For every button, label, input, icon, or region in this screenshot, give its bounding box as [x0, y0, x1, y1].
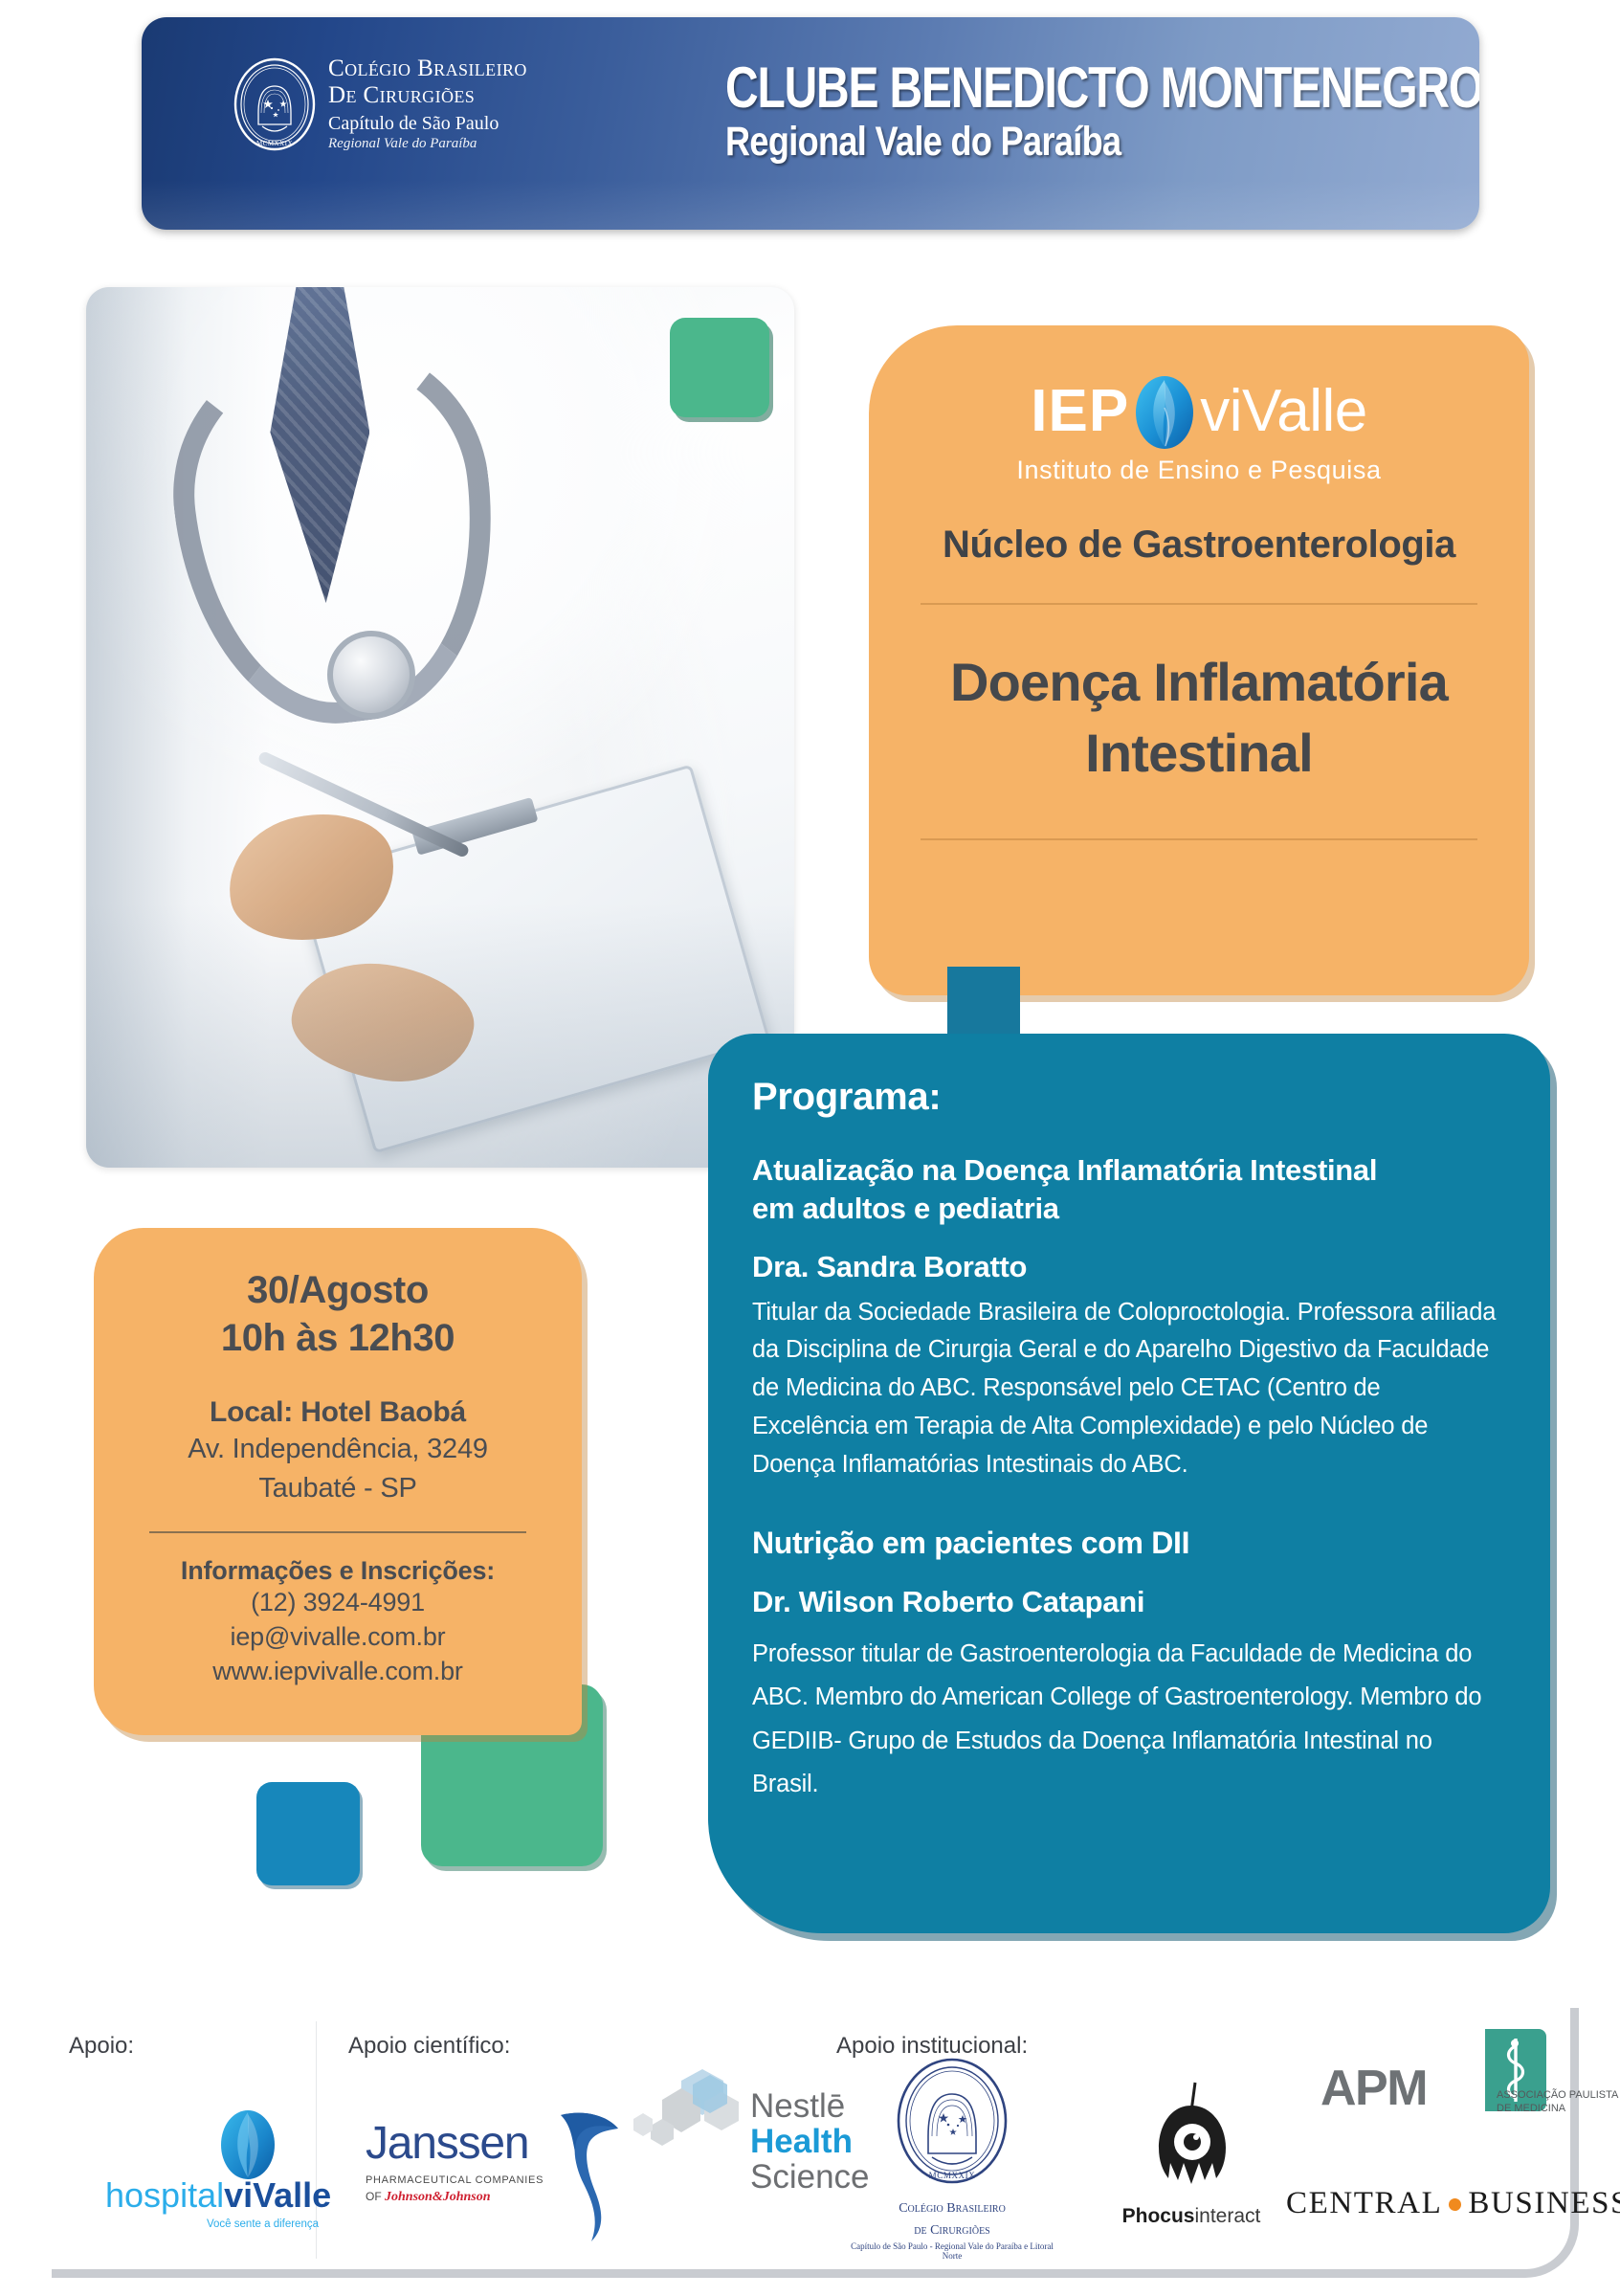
logo-apm: APM ASSOCIAÇÃO PAULISTA DE MEDICINA: [1320, 2063, 1427, 2113]
central-business-wordmark: CENTRALBUSINESS: [1286, 2186, 1620, 2221]
business-word: BUSINESS: [1468, 2186, 1620, 2220]
disease-title-line-1: Doença Inflamatória: [903, 647, 1495, 718]
disease-title-line-2: Intestinal: [903, 718, 1495, 789]
hospital-tagline: Você sente a diferença: [207, 2218, 319, 2230]
logo-central-business: CENTRALBUSINESS: [1286, 2186, 1620, 2221]
central-word: CENTRAL: [1286, 2186, 1442, 2220]
contact-phone[interactable]: (12) 3924-4991: [126, 1586, 549, 1620]
event-date-time: 30/Agosto 10h às 12h30: [126, 1266, 549, 1362]
cbc-wordmark: Colégio Brasileiro de Cirurgiões Capítul…: [328, 56, 527, 152]
logo-phocus-interact: Phocusinteract: [1100, 2079, 1282, 2228]
banner-title: CLUBE BENEDICTO MONTENEGRO: [725, 59, 1479, 117]
janssen-wordmark: Janssen: [366, 2121, 544, 2167]
iep-logo-text-right: viValle: [1200, 382, 1367, 441]
talk-2-speaker: Dr. Wilson Roberto Catapani: [752, 1585, 1498, 1619]
talk-block-1: Atualização na Doença Inflamatória Intes…: [752, 1151, 1498, 1483]
hospital-vivalle-wordmark: hospitalviValle: [105, 2178, 331, 2213]
info-divider: [149, 1531, 526, 1533]
venue-address: Av. Independência, 3249: [126, 1432, 549, 1468]
janssen-of: OF: [366, 2190, 382, 2203]
janssen-sub-2: OF Johnson&Johnson: [366, 2190, 544, 2205]
venue-city: Taubaté - SP: [126, 1471, 549, 1507]
johnson-johnson-wordmark: Johnson&Johnson: [385, 2190, 491, 2204]
cbc-line-3: Capítulo de São Paulo: [328, 113, 527, 135]
orange-dot-icon: [1449, 2198, 1461, 2211]
decorative-square-blue: [256, 1782, 360, 1885]
cbc-footer-line-2: de Cirurgiões: [842, 2222, 1062, 2239]
talk-1-bio: Titular da Sociedade Brasileira de Colop…: [752, 1294, 1498, 1484]
footer-sponsors: Apoio: Apoio científico: Apoio instituci…: [52, 2008, 1579, 2278]
cbc-footer-line-1: Colégio Brasileiro: [842, 2200, 1062, 2217]
cbc-line-1: Colégio Brasileiro: [328, 56, 527, 82]
event-date: 30/Agosto: [126, 1266, 549, 1314]
apm-subtitle-line-2: DE MEDICINA: [1497, 2102, 1618, 2115]
banner-titles: CLUBE BENEDICTO MONTENEGRO Regional Vale…: [725, 59, 1479, 164]
talk-1-title: Atualização na Doença Inflamatória Intes…: [752, 1151, 1498, 1229]
program-card: Programa: Atualização na Doença Inflamat…: [708, 1034, 1550, 1933]
logo-janssen: Janssen PHARMACEUTICAL COMPANIES OF John…: [366, 2121, 544, 2205]
contact-email[interactable]: iep@vivalle.com.br: [126, 1620, 549, 1655]
blue-leaf-drop-icon: [218, 2107, 277, 2180]
cbc-footer-line-3: Capítulo de São Paulo - Regional Vale do…: [842, 2241, 1062, 2261]
iep-vivalle-logo: IEP viValle: [903, 373, 1495, 450]
nucleus-title: Núcleo de Gastroenterologia: [903, 524, 1495, 567]
phocus-word-light: interact: [1194, 2205, 1260, 2227]
contact-label: Informações e Inscrições:: [126, 1556, 549, 1586]
banner-subtitle: Regional Vale do Paraíba: [725, 121, 1479, 164]
card-divider-top: [921, 603, 1477, 605]
poster-root: MCMXXIX Colégio Brasileiro de Cirurgiões…: [0, 0, 1620, 2296]
nestle-hexagons-icon: [628, 2067, 744, 2167]
doctor-photo: [86, 287, 794, 1168]
talk-block-2: Nutrição em pacientes com DII Dr. Wilson…: [752, 1524, 1498, 1806]
vivalle-word: viValle: [224, 2175, 331, 2215]
talk-2-bio: Professor titular de Gastroenterologia d…: [752, 1633, 1498, 1807]
event-time: 10h às 12h30: [126, 1314, 549, 1362]
blue-leaf-drop-icon: [1133, 373, 1196, 450]
header-banner: MCMXXIX Colégio Brasileiro de Cirurgiões…: [142, 17, 1479, 230]
hospital-word: hospital: [105, 2175, 224, 2215]
title-card: IEP viValle: [869, 325, 1529, 995]
apm-subtitle: ASSOCIAÇÃO PAULISTA DE MEDICINA: [1497, 2088, 1618, 2116]
cbc-line-2: de Cirurgiões: [328, 82, 527, 109]
apm-wordmark: APM: [1320, 2063, 1427, 2113]
apm-subtitle-line-1: ASSOCIAÇÃO PAULISTA: [1497, 2088, 1618, 2102]
card-divider-bottom: [921, 838, 1477, 840]
decorative-square-green-top: [670, 318, 769, 417]
janssen-sub-1: PHARMACEUTICAL COMPANIES: [366, 2174, 544, 2186]
phocus-creature-icon: [1142, 2079, 1241, 2196]
event-info-card: 30/Agosto 10h às 12h30 Local: Hotel Baob…: [94, 1228, 582, 1735]
talk-1-title-line-1: Atualização na Doença Inflamatória Intes…: [752, 1151, 1498, 1190]
photo-shadow-bottom: [86, 903, 794, 1168]
cbc-seal-icon: MCMXXIX: [233, 57, 316, 151]
cbc-seal-icon: MCMXXIX: [896, 2058, 1009, 2190]
footer-label-institucional: Apoio institucional:: [836, 2033, 1028, 2060]
svg-text:MCMXXIX: MCMXXIX: [256, 140, 293, 147]
cbc-line-4: Regional Vale do Paraíba: [328, 136, 527, 152]
talk-2-title: Nutrição em pacientes com DII: [752, 1524, 1498, 1564]
iep-logo-tagline: Instituto de Ensino e Pesquisa: [903, 456, 1495, 485]
contact-website[interactable]: www.iepvivalle.com.br: [126, 1655, 549, 1689]
program-heading: Programa:: [752, 1076, 1498, 1119]
footer-label-apoio: Apoio:: [69, 2033, 134, 2060]
talk-1-title-line-2: em adultos e pediatria: [752, 1190, 1498, 1228]
phocus-word-bold: Phocus: [1122, 2205, 1195, 2227]
venue-name: Local: Hotel Baobá: [126, 1396, 549, 1429]
talk-1-speaker: Dra. Sandra Boratto: [752, 1250, 1498, 1284]
stethoscope-head: [327, 631, 415, 719]
iep-logo-text-left: IEP: [1031, 382, 1129, 441]
footer-label-cientifico: Apoio científico:: [348, 2033, 510, 2060]
svg-text:MCMXXIX: MCMXXIX: [929, 2171, 976, 2180]
logo-colegio-brasileiro-cirurgioes: MCMXXIX Colégio Brasileiro de Cirurgiões…: [842, 2058, 1062, 2261]
janssen-swoosh-icon: [553, 2100, 624, 2243]
cbc-logo-group: MCMXXIX Colégio Brasileiro de Cirurgiões…: [233, 56, 527, 152]
phocus-wordmark: Phocusinteract: [1100, 2205, 1282, 2228]
disease-title: Doença Inflamatória Intestinal: [903, 647, 1495, 789]
